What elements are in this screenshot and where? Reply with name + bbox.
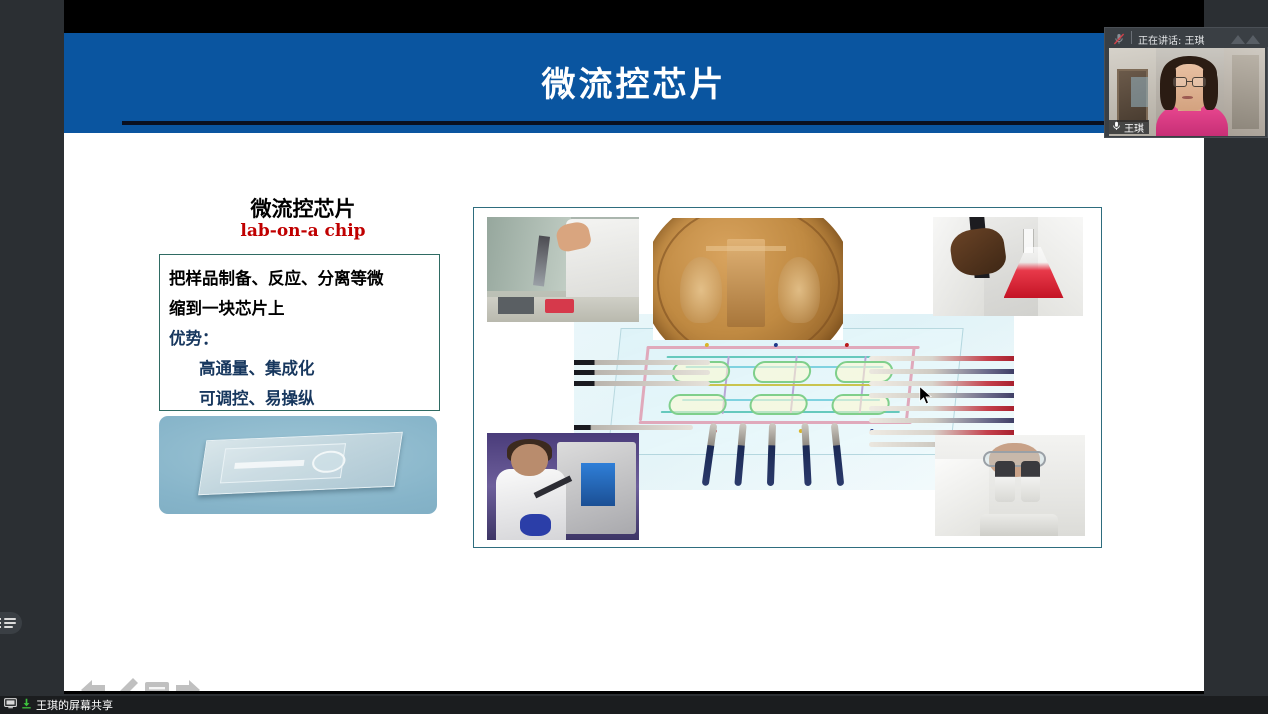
presentation-slide: 微流控芯片 微流控芯片 lab-on-a chip 把样品制备、反应、分离等微 …	[64, 33, 1204, 691]
description-line: 把样品制备、反应、分离等微	[169, 264, 439, 294]
mic-muted-icon	[1113, 32, 1125, 44]
video-panel-header: 正在讲话: 王琪	[1105, 28, 1268, 47]
hand-holding-red-flask-photo	[933, 217, 1083, 316]
scientist-with-pipette-photo	[487, 433, 639, 540]
participant-name-badge: 王琪	[1109, 120, 1149, 134]
previous-slide-button[interactable]	[78, 675, 108, 691]
chip-body	[607, 328, 964, 455]
title-underline	[122, 121, 1204, 125]
speaker-notes-button[interactable]	[142, 675, 172, 691]
screen-share-label: 王琪的屏幕共享	[36, 697, 113, 713]
advantage-item: 高通量、集成化	[169, 354, 439, 384]
header-divider	[1131, 31, 1132, 44]
chip-slab	[199, 431, 403, 494]
microfluidic-chip-photo	[159, 416, 437, 514]
advantages-label: 优势：	[169, 324, 439, 354]
list-menu-icon[interactable]	[0, 612, 22, 634]
image-collage	[473, 207, 1102, 548]
content-heading: 微流控芯片	[158, 193, 448, 223]
mic-icon	[1112, 118, 1121, 136]
participant-name: 王琪	[1124, 120, 1144, 135]
participant-video-panel[interactable]: 正在讲话: 王琪	[1104, 27, 1268, 138]
shared-screen-region: 微流控芯片 微流控芯片 lab-on-a chip 把样品制备、反应、分离等微 …	[64, 0, 1204, 694]
taskbar: 王琪的屏幕共享	[0, 696, 1268, 714]
content-subheading: lab-on-a chip	[158, 221, 448, 241]
microscope-user-photo	[935, 435, 1085, 536]
description-box: 把样品制备、反应、分离等微 缩到一块芯片上 优势： 高通量、集成化 可调控、易操…	[159, 254, 440, 411]
pen-annotation-button[interactable]	[111, 675, 141, 691]
slide-title: 微流控芯片	[64, 57, 1204, 106]
screen-root: 微流控芯片 微流控芯片 lab-on-a chip 把样品制备、反应、分离等微 …	[0, 0, 1268, 714]
advantage-item: 可调控、易操纵	[169, 384, 439, 414]
share-arrow-icon	[21, 696, 32, 714]
description-line: 缩到一块芯片上	[169, 294, 439, 324]
monitor-icon	[4, 696, 17, 714]
chevrons-collapse-icon[interactable]	[1229, 32, 1263, 44]
penny-coin-photo	[653, 218, 843, 340]
speaking-status-label: 正在讲话: 王琪	[1138, 32, 1205, 47]
presenter-toolbar	[64, 661, 1204, 691]
mouse-cursor	[919, 386, 933, 405]
next-slide-button[interactable]	[173, 675, 203, 691]
lab-pipetting-photo	[487, 217, 639, 322]
